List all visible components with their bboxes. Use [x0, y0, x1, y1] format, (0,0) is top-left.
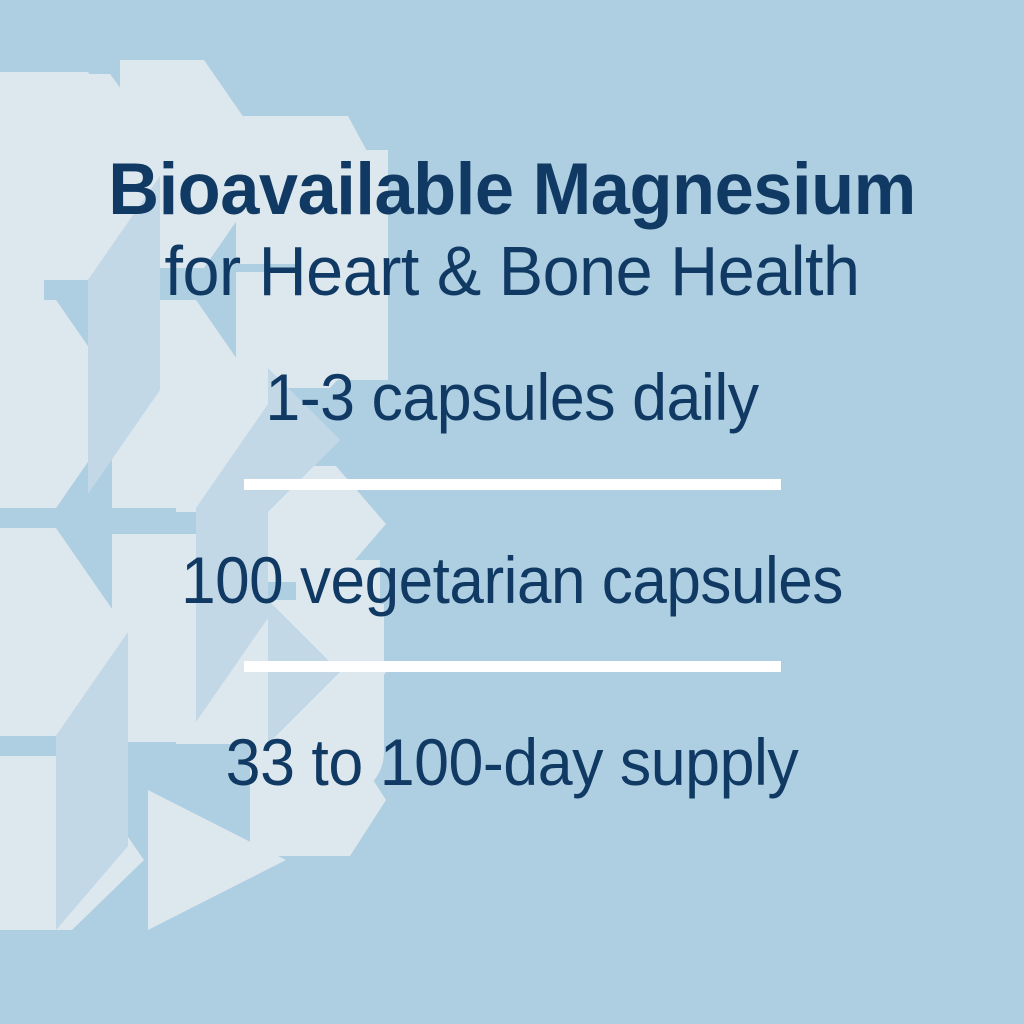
fact-dosage: 1-3 capsules daily — [26, 364, 999, 430]
fact-supply: 33 to 100-day supply — [26, 729, 999, 795]
fact-count: 100 vegetarian capsules — [31, 547, 994, 613]
page-title: Bioavailable Magnesium — [18, 152, 1006, 228]
content-stack: Bioavailable Magnesium for Heart & Bone … — [0, 0, 1024, 1024]
divider-2 — [244, 661, 781, 672]
divider-1 — [244, 479, 781, 490]
product-info-card: Bioavailable Magnesium for Heart & Bone … — [0, 0, 1024, 1024]
page-subtitle: for Heart & Bone Health — [26, 232, 999, 310]
headline-block: Bioavailable Magnesium for Heart & Bone … — [0, 152, 1024, 310]
